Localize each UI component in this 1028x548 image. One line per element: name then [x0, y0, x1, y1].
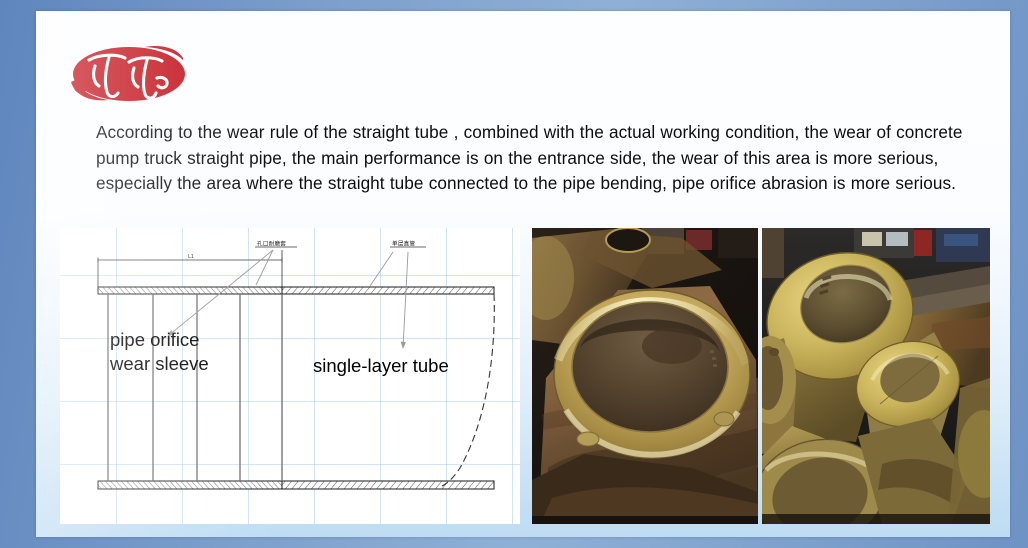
presentation-slide: According to the wear rule of the straig… — [36, 11, 1010, 537]
drawing-vector — [60, 228, 520, 524]
figures-row: L1 孔口耐磨套 单层直管 pipe orifice wear sleeve s… — [60, 228, 1000, 524]
label-line-2: wear sleeve — [110, 352, 209, 376]
slide-body-text: According to the wear rule of the straig… — [96, 120, 986, 197]
label-single-layer-tube: single-layer tube — [313, 354, 449, 378]
annotation-sleeve-cn: 孔口耐磨套 — [257, 240, 286, 248]
annotation-tube-cn: 单层直管 — [392, 240, 415, 248]
label-line-1: pipe orifice — [110, 328, 209, 352]
tj-company-logo — [65, 38, 193, 110]
label-pipe-orifice-wear-sleeve: pipe orifice wear sleeve — [110, 328, 209, 376]
slide-viewer: According to the wear rule of the straig… — [0, 0, 1028, 548]
pipe-orifice-closeup-photo — [532, 228, 758, 524]
technical-drawing-figure: L1 孔口耐磨套 单层直管 pipe orifice wear sleeve s… — [60, 228, 520, 524]
stacked-pipes-photo — [762, 228, 990, 524]
photo-divider — [758, 228, 760, 524]
dimension-label: L1 — [188, 254, 194, 260]
